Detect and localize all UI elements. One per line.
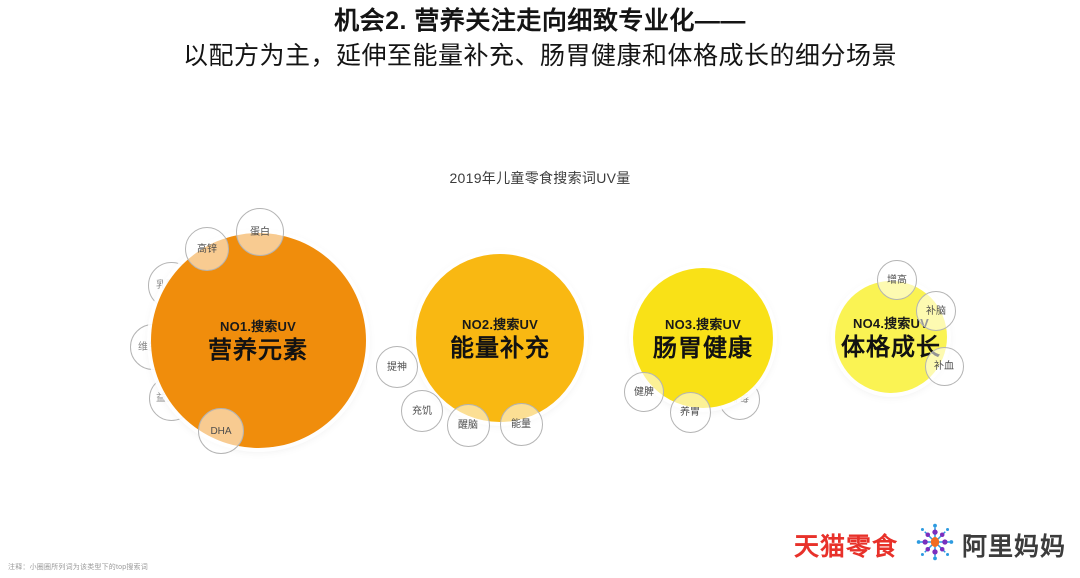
keyword-bubble[interactable]: 健脾	[624, 372, 664, 412]
bubble-category-label: 营养元素	[208, 337, 308, 365]
bubble-rank-label: NO3.搜索UV	[665, 314, 741, 333]
tmall-snacks-logo: 天猫零食	[794, 527, 898, 563]
bubble-category-label: 能量补充	[450, 335, 550, 363]
page-title-line-2: 以配方为主，延伸至能量补充、肠胃健康和体格成长的细分场景	[0, 38, 1080, 74]
bubble-1[interactable]: NO1.搜索UV营养元素	[151, 233, 366, 448]
keyword-bubble[interactable]: 补脑	[916, 291, 956, 331]
chart-title: 2019年儿童零食搜索词UV量	[0, 168, 1080, 188]
bubble-rank-label: NO1.搜索UV	[220, 316, 296, 335]
molecule-icon	[916, 523, 954, 566]
keyword-bubble[interactable]: 补血	[925, 347, 964, 386]
bubble-2[interactable]: NO2.搜索UV能量补充	[416, 254, 584, 422]
keyword-bubble[interactable]: 增高	[877, 260, 917, 300]
alimama-logo: 阿里妈妈	[916, 523, 1066, 566]
page-header: 机会2. 营养关注走向细致专业化—— 以配方为主，延伸至能量补充、肠胃健康和体格…	[0, 4, 1080, 74]
keyword-bubble[interactable]: 提神	[376, 346, 418, 388]
keyword-bubble[interactable]: 高锌	[185, 227, 229, 271]
page-title-line-1: 机会2. 营养关注走向细致专业化——	[0, 4, 1080, 38]
keyword-bubble[interactable]: 养胃	[670, 392, 711, 433]
brand-bar: 天猫零食	[794, 523, 1066, 566]
bubble-rank-label: NO2.搜索UV	[462, 314, 538, 333]
keyword-bubble[interactable]: 醒脑	[447, 404, 490, 447]
keyword-bubble[interactable]: 蛋白	[236, 208, 284, 256]
alimama-label: 阿里妈妈	[962, 527, 1066, 563]
keyword-bubble[interactable]: DHA	[198, 408, 244, 454]
bubble-chart: 乳酸菌维生素益生菌NO1.搜索UV营养元素蛋白高锌DHANO2.搜索UV能量补充…	[0, 190, 1080, 480]
keyword-bubble[interactable]: 充饥	[401, 390, 443, 432]
footnote: 注释：小圈圈所列词为该类型下的top搜索词	[8, 562, 148, 572]
bubble-category-label: 肠胃健康	[653, 335, 753, 363]
keyword-bubble[interactable]: 能量	[500, 403, 543, 446]
